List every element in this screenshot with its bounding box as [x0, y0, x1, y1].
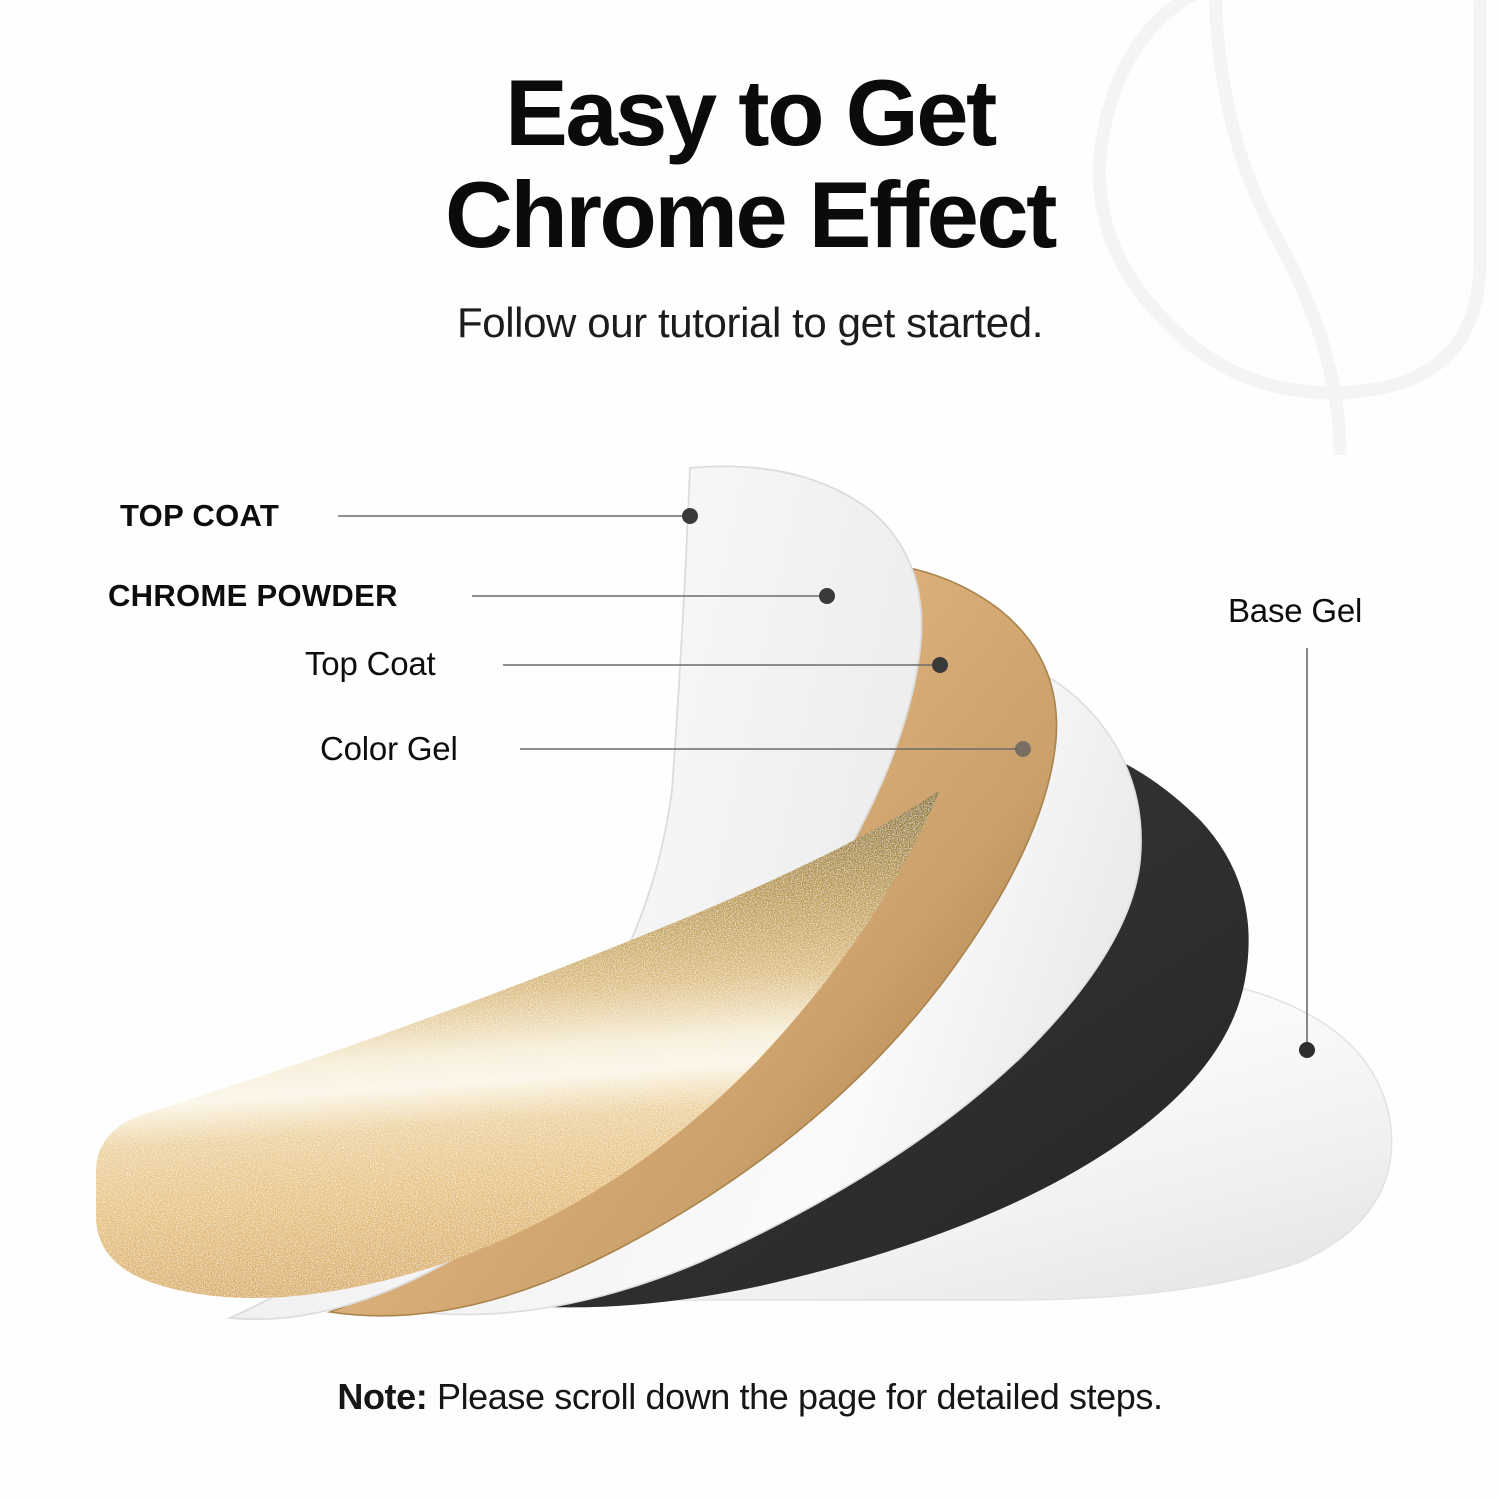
leader-dot-color-gel [1015, 741, 1031, 757]
infographic-page: Easy to Get Chrome Effect Follow our tut… [0, 0, 1500, 1500]
footer-note-prefix: Note: [337, 1376, 427, 1417]
leader-dot-top-coat-upper [682, 508, 698, 524]
label-top-coat-lower: Top Coat [305, 645, 435, 683]
label-chrome-powder: CHROME POWDER [108, 578, 398, 614]
label-top-coat-upper: TOP COAT [120, 498, 279, 534]
footer-note: Note: Please scroll down the page for de… [0, 1376, 1500, 1418]
leader-dot-top-coat-lower [932, 657, 948, 673]
label-base-gel: Base Gel [1228, 592, 1362, 630]
layer-diagram [0, 0, 1500, 1500]
leader-dot-base-gel [1299, 1042, 1315, 1058]
footer-note-text: Please scroll down the page for detailed… [427, 1376, 1162, 1417]
leader-dot-chrome-powder [819, 588, 835, 604]
label-color-gel: Color Gel [320, 730, 458, 768]
